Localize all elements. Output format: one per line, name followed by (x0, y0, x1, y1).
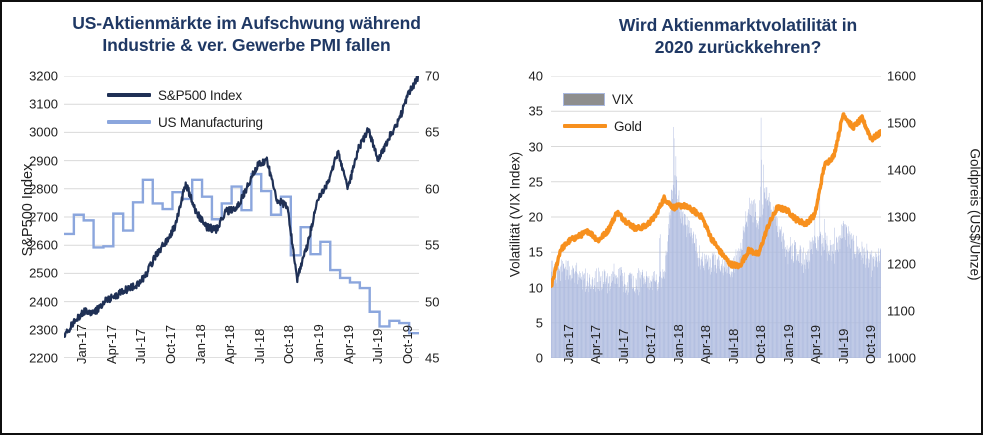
y-tick-label: 2700 (2, 210, 58, 225)
left-chart-panel: US-Aktienmärkte im Aufschwung während In… (2, 2, 491, 433)
x-tick-label: Oct-18 (753, 325, 768, 364)
left-chart-title: US-Aktienmärkte im Aufschwung während In… (2, 12, 491, 56)
y2-tick-label: 1100 (887, 304, 915, 319)
legend-swatch-icon (107, 93, 151, 97)
right-chart-y2-axis-title: Goldpreis (US$/Unze) (968, 120, 983, 310)
x-tick-label: Jul-17 (616, 329, 631, 364)
y2-tick-label: 45 (425, 351, 439, 366)
right-chart-title: Wird Aktienmarktvolatilität in 2020 zurü… (495, 14, 981, 58)
right-chart-title-line2: 2020 zurückkehren? (555, 36, 921, 58)
x-tick-label: Oct-19 (863, 325, 878, 364)
x-tick-label: Oct-19 (400, 325, 415, 364)
y-tick-label: 2800 (2, 181, 58, 196)
legend-label: S&P500 Index (158, 88, 242, 103)
x-tick-label: Oct-17 (163, 325, 178, 364)
y-tick-label: 5 (495, 315, 543, 330)
x-tick-label: Apr-19 (808, 325, 823, 364)
x-tick-label: Jan-18 (193, 324, 208, 364)
y2-tick-label: 1500 (887, 116, 916, 131)
y2-tick-label: 1300 (887, 210, 916, 225)
legend-swatch-icon (563, 93, 605, 106)
y-tick-label: 10 (495, 280, 543, 295)
y2-tick-label: 65 (425, 125, 439, 140)
y-tick-label: 35 (495, 104, 543, 119)
legend-item[interactable]: Gold (563, 117, 642, 135)
left-chart-legend: S&P500 IndexUS Manufacturing (107, 86, 263, 140)
y-tick-label: 40 (495, 69, 543, 84)
x-tick-label: Jul-18 (726, 329, 741, 364)
x-tick-label: Apr-17 (104, 325, 119, 364)
y-tick-label: 25 (495, 174, 543, 189)
y2-tick-label: 60 (425, 181, 439, 196)
left-chart-title-line2: Industrie & ver. Gewerbe PMI fallen (30, 34, 463, 56)
y2-tick-label: 1000 (887, 351, 916, 366)
legend-label: Gold (614, 119, 642, 134)
legend-label: US Manufacturing (158, 115, 263, 130)
y2-tick-label: 55 (425, 238, 439, 253)
right-chart-panel: Wird Aktienmarktvolatilität in 2020 zurü… (495, 2, 981, 433)
y-tick-label: 20 (495, 210, 543, 225)
y-tick-label: 3200 (2, 69, 58, 84)
x-tick-label: Apr-18 (222, 325, 237, 364)
legend-label: VIX (612, 92, 633, 107)
x-tick-label: Jan-19 (311, 324, 326, 364)
x-tick-label: Jan-19 (781, 324, 796, 364)
right-chart-legend: VIXGold (563, 90, 642, 144)
y-tick-label: 3000 (2, 125, 58, 140)
legend-item[interactable]: S&P500 Index (107, 86, 263, 104)
y2-tick-label: 70 (425, 69, 439, 84)
y-tick-label: 3100 (2, 97, 58, 112)
legend-swatch-icon (563, 124, 607, 128)
y2-tick-label: 1400 (887, 163, 916, 178)
x-tick-label: Oct-17 (643, 325, 658, 364)
x-tick-label: Jan-17 (74, 324, 89, 364)
y-tick-label: 2900 (2, 153, 58, 168)
x-tick-label: Apr-17 (588, 325, 603, 364)
x-tick-label: Jan-18 (671, 324, 686, 364)
x-tick-label: Jul-19 (370, 329, 385, 364)
y-tick-label: 2300 (2, 322, 58, 337)
y-tick-label: 2400 (2, 294, 58, 309)
y2-tick-label: 50 (425, 294, 439, 309)
y-tick-label: 2600 (2, 238, 58, 253)
x-tick-label: Jul-19 (836, 329, 851, 364)
x-tick-label: Jul-17 (133, 329, 148, 364)
y-tick-label: 0 (495, 351, 543, 366)
y2-tick-label: 1200 (887, 257, 916, 272)
y2-tick-label: 1600 (887, 69, 916, 84)
y-tick-label: 2500 (2, 266, 58, 281)
legend-item[interactable]: VIX (563, 90, 642, 108)
x-tick-label: Apr-18 (698, 325, 713, 364)
x-tick-label: Jul-18 (252, 329, 267, 364)
legend-swatch-icon (107, 120, 151, 124)
y-tick-label: 15 (495, 245, 543, 260)
left-chart-title-line1: US-Aktienmärkte im Aufschwung während (30, 12, 463, 34)
x-tick-label: Apr-19 (341, 325, 356, 364)
x-tick-label: Oct-18 (281, 325, 296, 364)
x-tick-label: Jan-17 (561, 324, 576, 364)
y-tick-label: 30 (495, 139, 543, 154)
right-chart-title-line1: Wird Aktienmarktvolatilität in (555, 14, 921, 36)
y-tick-label: 2200 (2, 351, 58, 366)
chart-page: US-Aktienmärkte im Aufschwung während In… (0, 0, 983, 435)
legend-item[interactable]: US Manufacturing (107, 113, 263, 131)
